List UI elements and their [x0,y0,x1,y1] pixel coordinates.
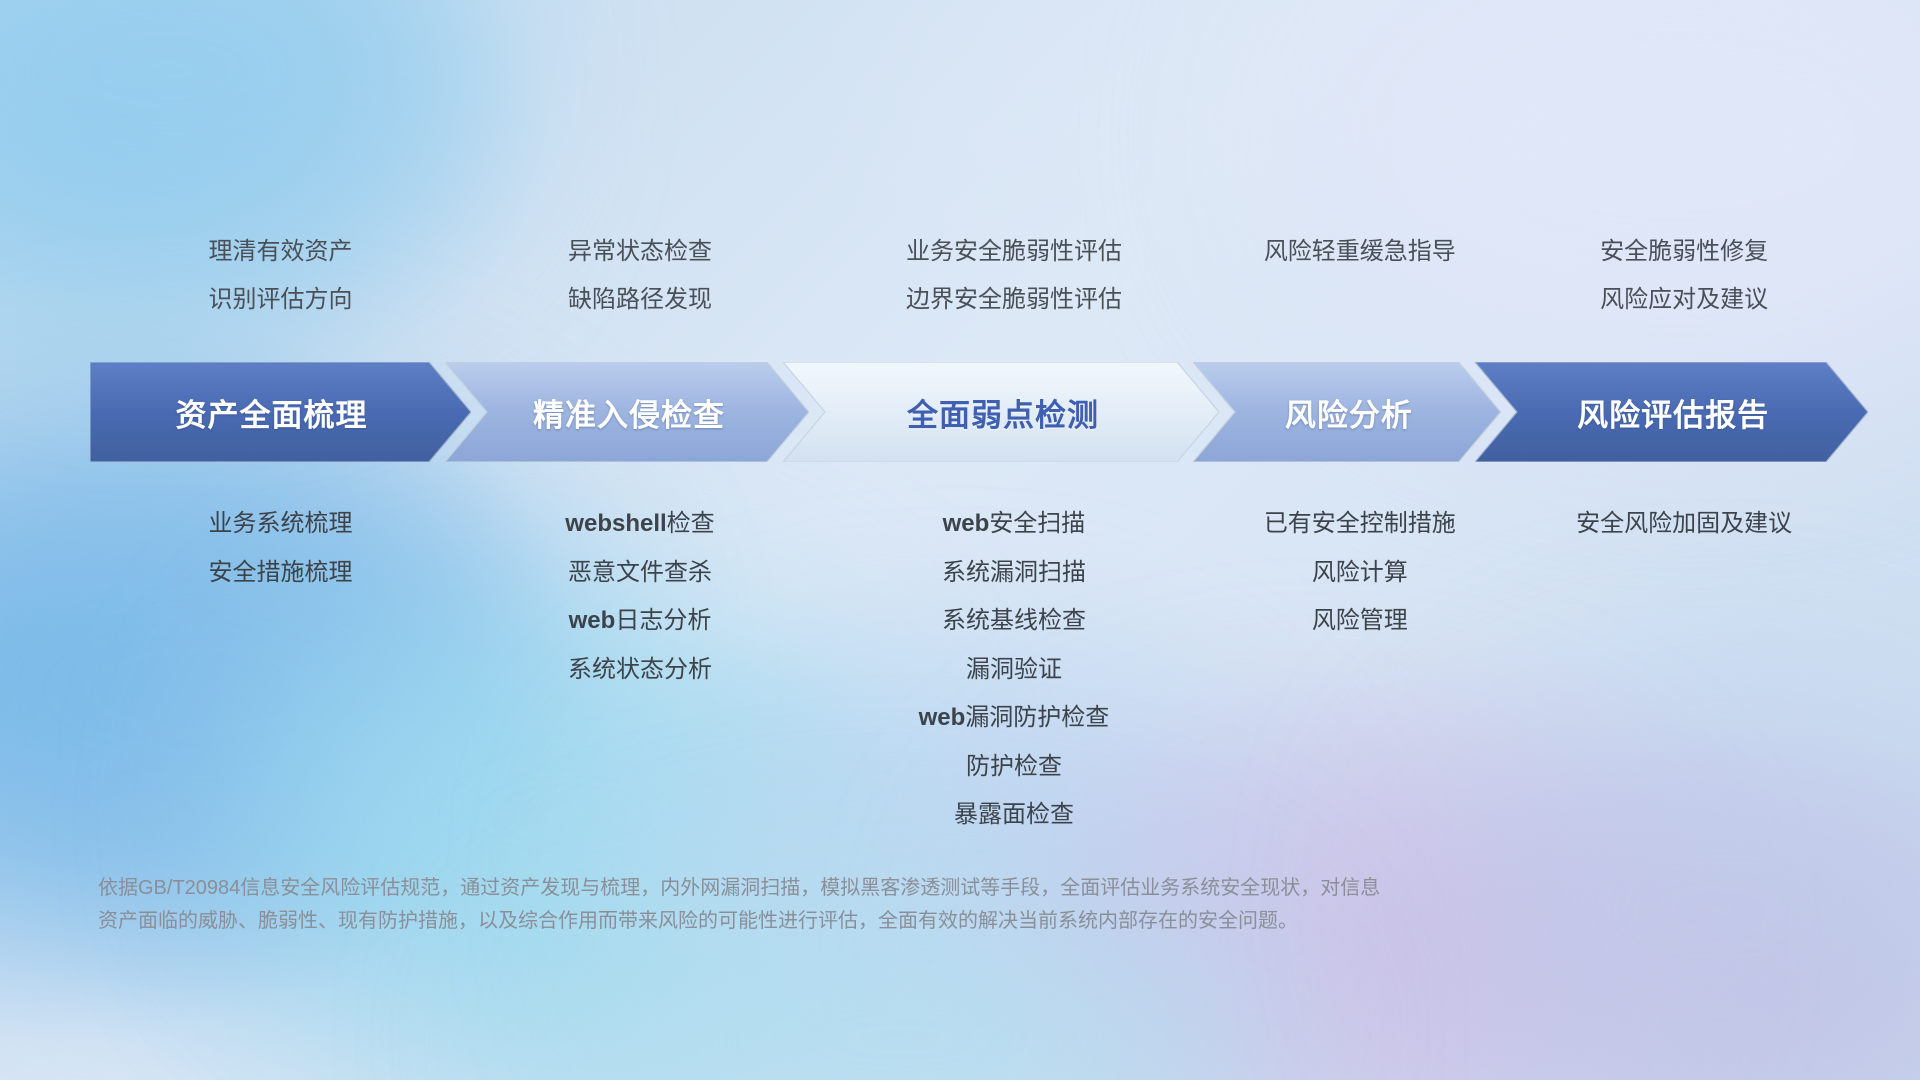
caption-emphasis: web [569,607,616,634]
caption-line: 已有安全控制措施 [1219,500,1501,549]
caption-line: 安全脆弱性修复 [1501,228,1868,276]
caption-line: 异常状态检查 [471,228,809,276]
footnote: 依据GB/T20984信息安全风险评估规范，通过资产发现与梳理，内外网漏洞扫描，… [98,872,1658,938]
caption-line: 漏洞验证 [809,646,1219,695]
caption-emphasis: webshell [565,510,666,537]
stage-title-2: 精准入侵检查 [533,390,725,435]
caption-line: 风险管理 [1219,597,1501,646]
caption-line: 恶意文件查杀 [471,549,809,598]
caption-line: 防护检查 [809,743,1219,792]
stage-title-4: 风险分析 [1285,390,1413,435]
process-stage-2[interactable]: 精准入侵检查 [445,362,809,462]
caption-line: 缺陷路径发现 [471,276,809,324]
bottom-captions-row: 业务系统梳理安全措施梳理webshell检查恶意文件查杀web日志分析系统状态分… [0,500,1920,840]
slide-canvas: 理清有效资产识别评估方向异常状态检查缺陷路径发现业务安全脆弱性评估边界安全脆弱性… [0,0,1920,1080]
top-captions-row: 理清有效资产识别评估方向异常状态检查缺陷路径发现业务安全脆弱性评估边界安全脆弱性… [0,228,1920,324]
caption-line: web日志分析 [471,597,809,646]
process-stage-1[interactable]: 资产全面梳理 [90,362,471,462]
process-stage-5[interactable]: 风险评估报告 [1475,362,1868,462]
caption-line: 业务系统梳理 [90,500,471,549]
caption-line: 系统漏洞扫描 [809,549,1219,598]
top-caption-col-2: 异常状态检查缺陷路径发现 [471,228,809,324]
top-caption-col-1: 理清有效资产识别评估方向 [90,228,471,324]
stage-title-1: 资产全面梳理 [176,390,368,435]
caption-line: 风险计算 [1219,549,1501,598]
caption-line: 风险轻重缓急指导 [1219,228,1501,276]
process-chevron-banner: 资产全面梳理精准入侵检查全面弱点检测风险分析风险评估报告 [90,362,1850,462]
top-caption-col-5: 安全脆弱性修复风险应对及建议 [1501,228,1868,324]
top-caption-col-4: 风险轻重缓急指导 [1219,228,1501,324]
top-caption-col-3: 业务安全脆弱性评估边界安全脆弱性评估 [809,228,1219,324]
process-stage-4[interactable]: 风险分析 [1193,362,1501,462]
footnote-line-1: 依据GB/T20984信息安全风险评估规范，通过资产发现与梳理，内外网漏洞扫描，… [98,872,1658,905]
caption-line: 暴露面检查 [809,791,1219,840]
bottom-caption-col-3: web安全扫描系统漏洞扫描系统基线检查漏洞验证web漏洞防护检查防护检查暴露面检… [809,500,1219,840]
caption-emphasis: web [919,704,966,731]
bottom-caption-col-2: webshell检查恶意文件查杀web日志分析系统状态分析 [471,500,809,694]
caption-line: 风险应对及建议 [1501,276,1868,324]
caption-line: 理清有效资产 [90,228,471,276]
caption-line: 安全风险加固及建议 [1501,500,1868,549]
bottom-caption-col-1: 业务系统梳理安全措施梳理 [90,500,471,597]
stage-title-3: 全面弱点检测 [907,390,1099,435]
bottom-caption-col-5: 安全风险加固及建议 [1501,500,1868,549]
caption-line: 安全措施梳理 [90,549,471,598]
process-stage-3[interactable]: 全面弱点检测 [783,362,1219,462]
caption-line: 边界安全脆弱性评估 [809,276,1219,324]
caption-emphasis: web [943,510,990,537]
footnote-line-2: 资产面临的威胁、脆弱性、现有防护措施，以及综合作用而带来风险的可能性进行评估，全… [98,905,1658,938]
caption-line: 识别评估方向 [90,276,471,324]
slide-content: 理清有效资产识别评估方向异常状态检查缺陷路径发现业务安全脆弱性评估边界安全脆弱性… [0,0,1920,1080]
caption-line: web漏洞防护检查 [809,694,1219,743]
caption-line: webshell检查 [471,500,809,549]
caption-line: web安全扫描 [809,500,1219,549]
caption-line: 系统基线检查 [809,597,1219,646]
stage-title-5: 风险评估报告 [1577,390,1769,435]
caption-line: 系统状态分析 [471,646,809,695]
caption-line: 业务安全脆弱性评估 [809,228,1219,276]
bottom-caption-col-4: 已有安全控制措施风险计算风险管理 [1219,500,1501,646]
